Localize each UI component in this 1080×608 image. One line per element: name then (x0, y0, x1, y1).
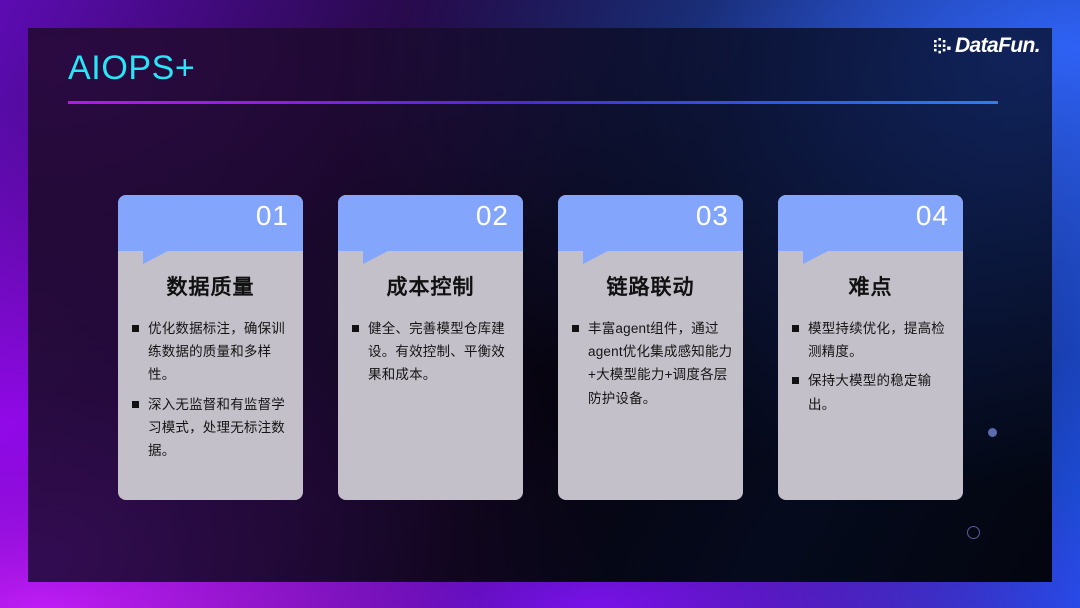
bullet-item: 保持大模型的稳定输出。 (788, 369, 953, 415)
card-item[interactable]: 01 数据质量 优化数据标注，确保训练数据的质量和多样性。 深入无监督和有监督学… (118, 195, 303, 500)
card-header: 01 (118, 195, 303, 251)
card-title: 数据质量 (118, 271, 303, 301)
card-number: 01 (256, 200, 289, 232)
bullet-square-icon (572, 325, 579, 332)
bullet-text: 深入无监督和有监督学习模式，处理无标注数据。 (148, 393, 293, 463)
card-number: 03 (696, 200, 729, 232)
card-tail-notch (803, 251, 828, 264)
bullet-item: 健全、完善模型仓库建设。有效控制、平衡效果和成本。 (348, 317, 513, 387)
bullet-item: 丰富agent组件，通过agent优化集成感知能力+大模型能力+调度各层防护设备… (568, 317, 733, 410)
decorative-dot-ring (967, 526, 980, 539)
card-tail-notch (583, 251, 608, 264)
card-bullets: 模型持续优化，提高检测精度。 保持大模型的稳定输出。 (788, 317, 953, 500)
bullet-square-icon (792, 377, 799, 384)
page-title: AIOPS+ (68, 50, 1012, 87)
card-number: 02 (476, 200, 509, 232)
decorative-dot-filled (988, 428, 997, 437)
card-title: 成本控制 (338, 271, 523, 301)
heading-block: AIOPS+ (68, 50, 1012, 104)
card-header: 03 (558, 195, 743, 251)
card-list: 01 数据质量 优化数据标注，确保训练数据的质量和多样性。 深入无监督和有监督学… (118, 195, 963, 500)
title-underline (68, 101, 998, 104)
bullet-text: 健全、完善模型仓库建设。有效控制、平衡效果和成本。 (368, 317, 513, 387)
card-title: 难点 (778, 271, 963, 301)
bullet-text: 保持大模型的稳定输出。 (808, 369, 953, 415)
bullet-square-icon (792, 325, 799, 332)
bullet-text: 丰富agent组件，通过agent优化集成感知能力+大模型能力+调度各层防护设备… (588, 317, 733, 410)
card-item[interactable]: 02 成本控制 健全、完善模型仓库建设。有效控制、平衡效果和成本。 (338, 195, 523, 500)
card-title: 链路联动 (558, 271, 743, 301)
slide-stage: DataFun. AIOPS+ 01 数据质量 优化数据标注，确保训练数据的质量… (28, 28, 1052, 582)
card-item[interactable]: 04 难点 模型持续优化，提高检测精度。 保持大模型的稳定输出。 (778, 195, 963, 500)
slide-canvas: DataFun. AIOPS+ 01 数据质量 优化数据标注，确保训练数据的质量… (0, 0, 1080, 608)
bullet-square-icon (132, 401, 139, 408)
card-tail-notch (143, 251, 168, 264)
bullet-square-icon (132, 325, 139, 332)
bullet-text: 优化数据标注，确保训练数据的质量和多样性。 (148, 317, 293, 387)
card-item[interactable]: 03 链路联动 丰富agent组件，通过agent优化集成感知能力+大模型能力+… (558, 195, 743, 500)
bullet-item: 优化数据标注，确保训练数据的质量和多样性。 (128, 317, 293, 387)
card-number: 04 (916, 200, 949, 232)
card-bullets: 丰富agent组件，通过agent优化集成感知能力+大模型能力+调度各层防护设备… (568, 317, 733, 500)
bullet-item: 深入无监督和有监督学习模式，处理无标注数据。 (128, 393, 293, 463)
card-bullets: 健全、完善模型仓库建设。有效控制、平衡效果和成本。 (348, 317, 513, 500)
bullet-item: 模型持续优化，提高检测精度。 (788, 317, 953, 363)
card-bullets: 优化数据标注，确保训练数据的质量和多样性。 深入无监督和有监督学习模式，处理无标… (128, 317, 293, 500)
bullet-text: 模型持续优化，提高检测精度。 (808, 317, 953, 363)
bullet-square-icon (352, 325, 359, 332)
card-header: 04 (778, 195, 963, 251)
card-header: 02 (338, 195, 523, 251)
card-tail-notch (363, 251, 388, 264)
